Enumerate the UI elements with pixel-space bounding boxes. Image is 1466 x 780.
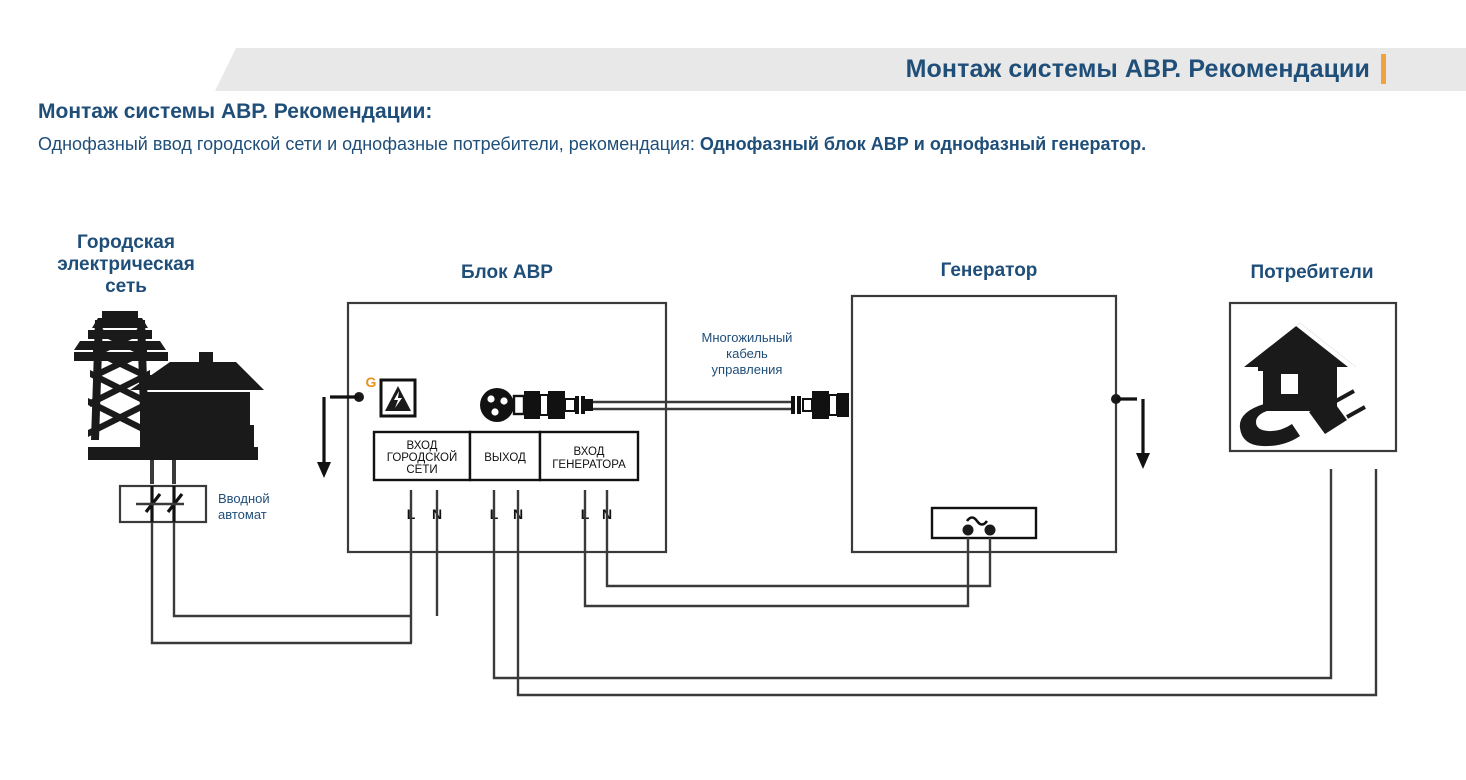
svg-text:СЕТИ: СЕТИ bbox=[406, 464, 437, 476]
svg-text:ГОРОДСКОЙ: ГОРОДСКОЙ bbox=[387, 451, 458, 464]
svg-text:ВХОД: ВХОД bbox=[574, 446, 605, 458]
avr-block-outline bbox=[348, 303, 666, 552]
slide-canvas: Монтаж системы АВР. Рекомендации Монтаж … bbox=[0, 0, 1466, 780]
svg-text:ВХОД: ВХОД bbox=[407, 440, 438, 452]
consumers-feed-arrow bbox=[1116, 399, 1150, 469]
wiring-harness bbox=[152, 469, 1376, 695]
avr-terminal-strip: ВХОД ГОРОДСКОЙ СЕТИ ВЫХОД ВХОД ГЕНЕРАТОР… bbox=[374, 432, 638, 480]
generator-output-symbol bbox=[932, 508, 1036, 538]
high-voltage-warning-icon bbox=[381, 380, 415, 416]
svg-text:ВЫХОД: ВЫХОД bbox=[484, 452, 526, 464]
main-breaker-symbol bbox=[120, 486, 206, 522]
svg-text:G: G bbox=[366, 374, 377, 390]
power-pylon-house-icon bbox=[74, 311, 264, 460]
svg-text:ГЕНЕРАТОРА: ГЕНЕРАТОРА bbox=[552, 459, 626, 471]
schematic-layer: G bbox=[0, 0, 1466, 780]
